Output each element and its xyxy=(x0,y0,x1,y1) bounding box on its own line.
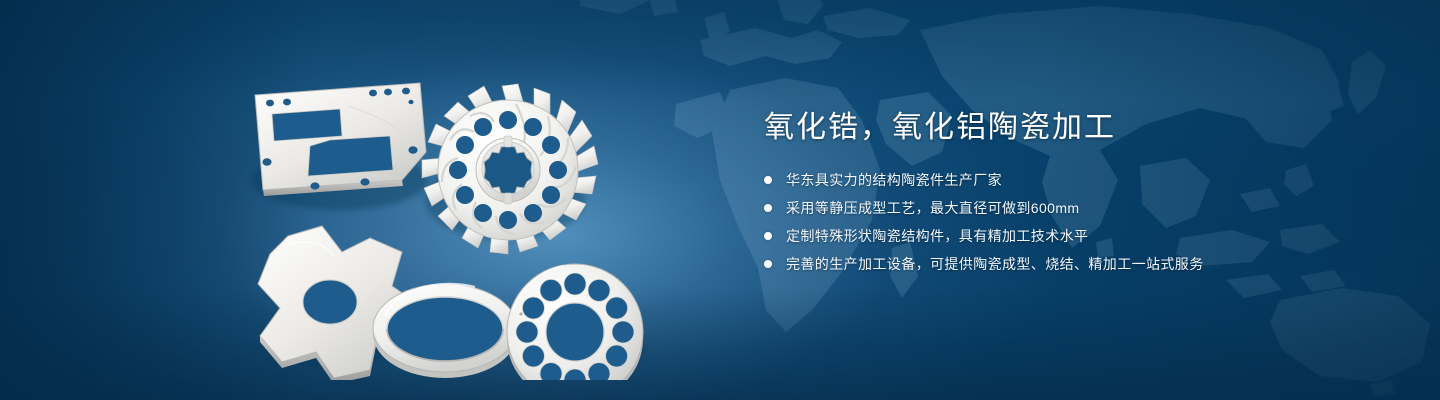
promo-banner: 氧化锆，氧化铝陶瓷加工 华东具实力的结构陶瓷件生产厂家 采用等静压成型工艺，最大… xyxy=(0,0,1440,400)
banner-copy: 氧化锆，氧化铝陶瓷加工 华东具实力的结构陶瓷件生产厂家 采用等静压成型工艺，最大… xyxy=(764,108,1384,274)
ceramic-mounting-plate xyxy=(255,83,426,196)
feature-text: 采用等静压成型工艺，最大直径可做到600mm xyxy=(786,200,1079,216)
list-item: 华东具实力的结构陶瓷件生产厂家 xyxy=(764,170,1384,190)
list-item: 采用等静压成型工艺，最大直径可做到600mm xyxy=(764,198,1384,218)
bullet-icon xyxy=(764,260,772,268)
ceramic-products-group xyxy=(230,40,700,380)
feature-list: 华东具实力的结构陶瓷件生产厂家 采用等静压成型工艺，最大直径可做到600mm 定… xyxy=(764,170,1384,274)
list-item: 完善的生产加工设备，可提供陶瓷成型、烧结、精加工一站式服务 xyxy=(764,254,1384,274)
feature-text: 华东具实力的结构陶瓷件生产厂家 xyxy=(786,172,1002,188)
bullet-icon xyxy=(764,232,772,240)
page-title: 氧化锆，氧化铝陶瓷加工 xyxy=(764,108,1384,148)
ceramic-ring xyxy=(373,284,517,378)
ceramic-impeller xyxy=(422,84,598,254)
bullet-icon xyxy=(764,204,772,212)
ceramic-valve-plate xyxy=(507,264,643,380)
bullet-icon xyxy=(764,176,772,184)
list-item: 定制特殊形状陶瓷结构件，具有精加工技术水平 xyxy=(764,226,1384,246)
feature-text: 完善的生产加工设备，可提供陶瓷成型、烧结、精加工一站式服务 xyxy=(786,256,1204,272)
feature-text: 定制特殊形状陶瓷结构件，具有精加工技术水平 xyxy=(786,228,1088,244)
